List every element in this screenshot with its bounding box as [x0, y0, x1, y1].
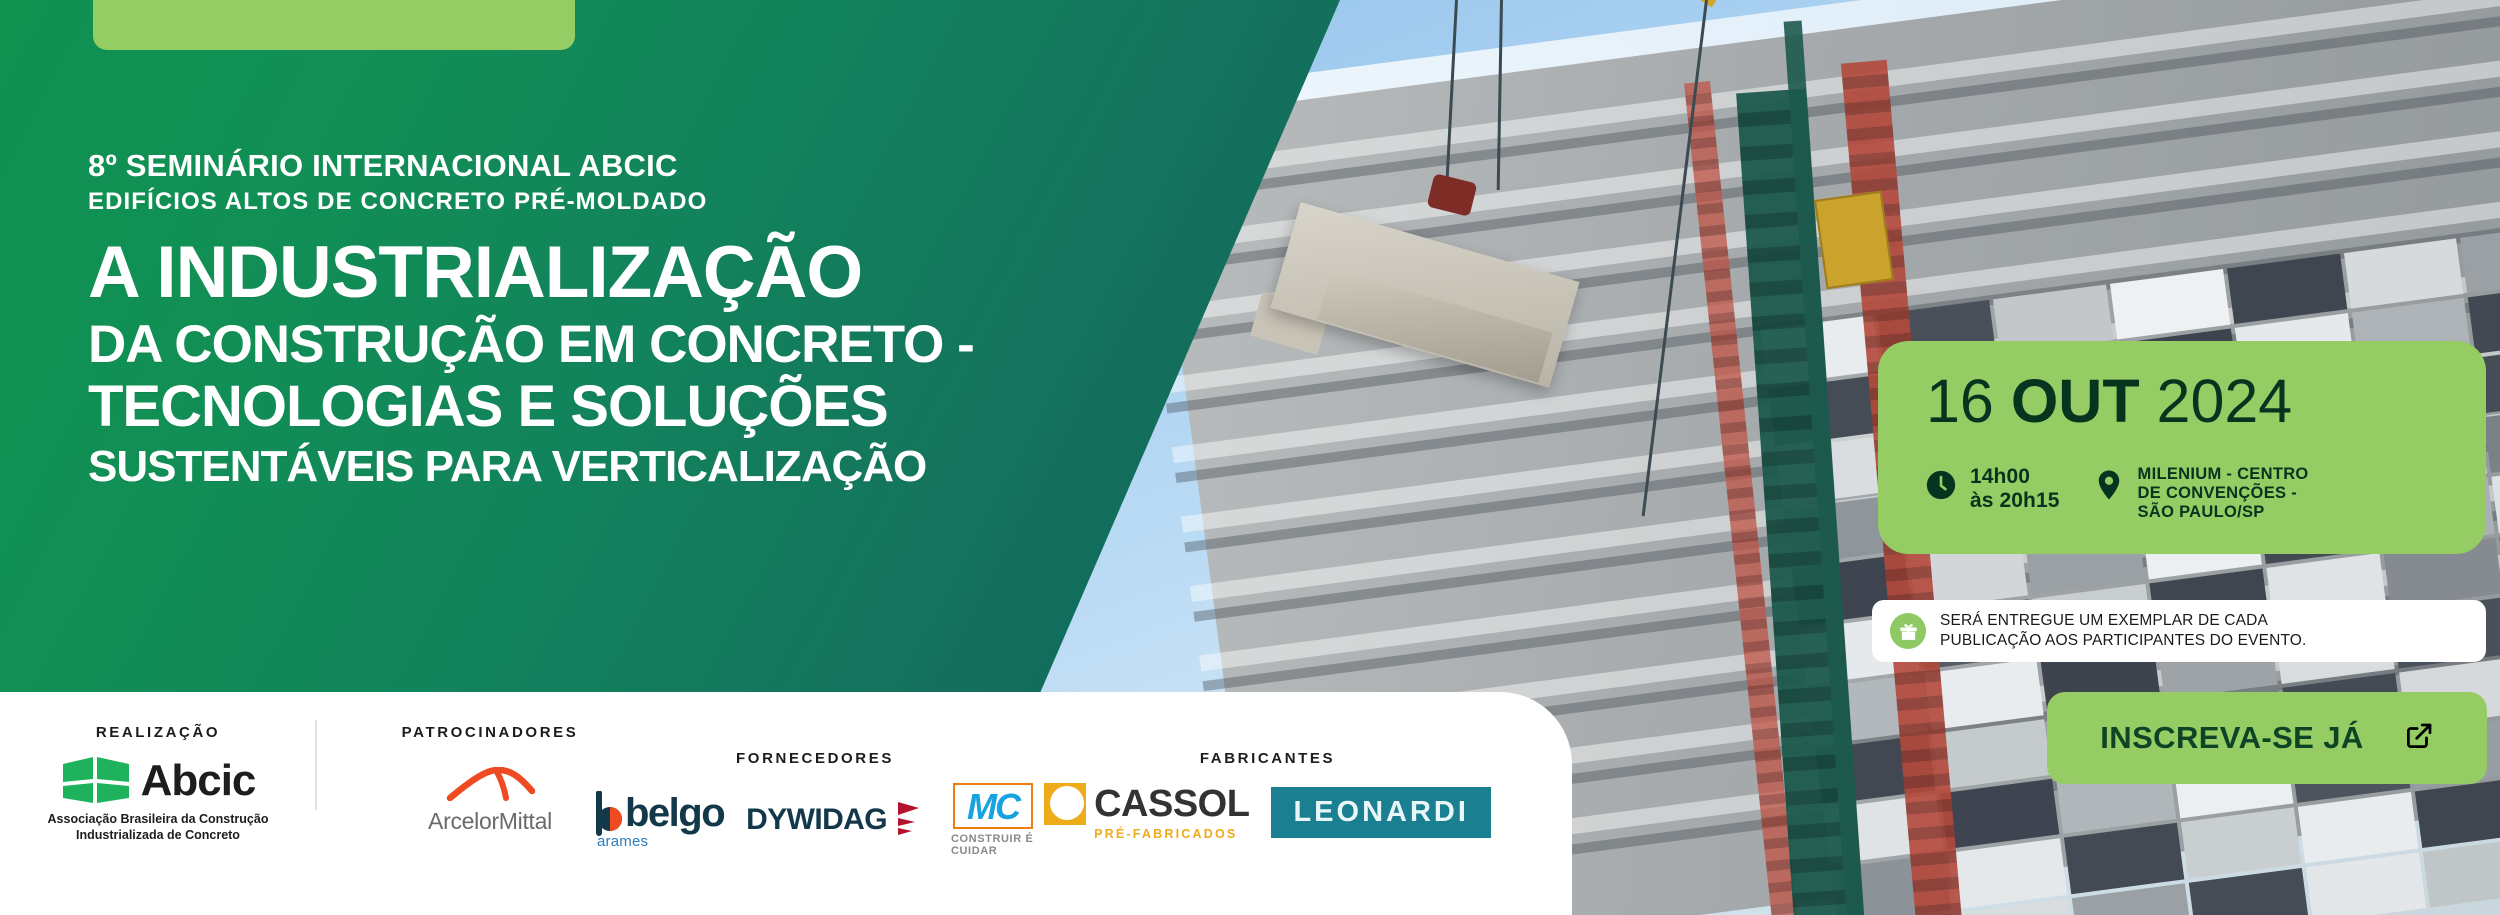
dywidag-wordmark: DYWIDAG: [746, 803, 887, 837]
dywidag-mark-icon: [895, 800, 929, 841]
gift-icon: [1890, 613, 1926, 649]
cassol-logo-main: CASSOL: [1044, 783, 1249, 825]
event-venue-line-3: SÃO PAULO/SP: [2138, 503, 2265, 521]
abcic-wordmark: Abcic: [141, 759, 256, 803]
event-venue-text: MILENIUM - CENTRO DE CONVENÇÕES - SÃO PA…: [2138, 465, 2309, 522]
event-time-line-2: às 20h15: [1970, 489, 2060, 512]
hero-headline-block: 8º SEMINÁRIO INTERNACIONAL ABCIC EDIFÍCI…: [88, 150, 1088, 489]
footer-group-title: FABRICANTES: [1040, 750, 1495, 767]
register-button-label: INSCREVA-SE JÁ: [2100, 720, 2363, 756]
footer-group-fornecedores: FORNECEDORES belgo arames: [595, 750, 1035, 857]
footer-group-title: REALIZAÇÃO: [18, 724, 298, 741]
abcic-tagline-line-1: Associação Brasileira da Construção: [48, 812, 269, 826]
arcelormittal-wordmark: ArcelorMittal: [428, 808, 552, 835]
top-green-tab: [93, 0, 575, 50]
hero-title-line-2: DA CONSTRUÇÃO EM CONCRETO -: [88, 319, 1088, 371]
event-venue-line-2: DE CONVENÇÕES -: [2138, 484, 2297, 502]
cassol-mark-icon: [1044, 783, 1086, 825]
event-date-card: 16 OUT 2024 14h00 às 20h15: [1878, 341, 2486, 554]
map-pin-icon: [2092, 468, 2126, 507]
belgo-wordmark: belgo: [625, 793, 724, 833]
mc-logo[interactable]: MC CONSTRUIR É CUIDAR: [951, 783, 1035, 857]
belgo-mark-icon: [595, 791, 625, 835]
event-kicker-line-1: 8º SEMINÁRIO INTERNACIONAL ABCIC: [88, 150, 1088, 183]
leonardi-wordmark: LEONARDI: [1293, 796, 1468, 828]
crane-trolley: [1814, 191, 1894, 290]
event-time: 14h00 às 20h15: [1924, 465, 2060, 514]
event-time-line-1: 14h00: [1970, 465, 2030, 488]
event-venue-line-1: MILENIUM - CENTRO: [2138, 465, 2309, 483]
event-date-year: 2024: [2157, 367, 2293, 435]
abcic-logo-top: Abcic: [61, 755, 256, 807]
belgo-logo[interactable]: belgo arames: [595, 791, 724, 850]
clock-icon: [1924, 468, 1958, 507]
cassol-tagline: PRÉ-FABRICADOS: [1094, 827, 1237, 841]
abcic-mark-icon: [61, 755, 131, 807]
abcic-tagline-line-2: Industrializada de Concreto: [76, 828, 240, 842]
external-link-icon: [2404, 721, 2434, 756]
fornecedores-logo-row: belgo arames DYWIDAG MC: [595, 783, 1035, 857]
publication-notice: SERÁ ENTREGUE UM EXEMPLAR DE CADA PUBLIC…: [1872, 600, 2486, 662]
event-date-day: 16: [1926, 367, 1994, 435]
leonardi-logo[interactable]: LEONARDI: [1271, 787, 1490, 838]
footer-divider: [315, 720, 317, 810]
arcelormittal-mark-icon: [444, 767, 536, 806]
hero-title-line-4: SUSTENTÁVEIS PARA VERTICALIZAÇÃO: [88, 445, 1088, 489]
mc-tagline: CONSTRUIR É CUIDAR: [951, 833, 1035, 857]
sponsors-footer: REALIZAÇÃO Abcic Associação Brasileira: [0, 692, 1572, 915]
notice-line-1: SERÁ ENTREGUE UM EXEMPLAR DE CADA: [1940, 612, 2268, 629]
notice-line-2: PUBLICAÇÃO AOS PARTICIPANTES DO EVENTO.: [1940, 632, 2306, 649]
publication-notice-text: SERÁ ENTREGUE UM EXEMPLAR DE CADA PUBLIC…: [1940, 611, 2306, 652]
event-meta-row: 14h00 às 20h15 MILENIUM - CENTRO DE CONV…: [1924, 465, 2309, 522]
event-banner: 8º SEMINÁRIO INTERNACIONAL ABCIC EDIFÍCI…: [0, 0, 2500, 915]
event-date-month: OUT: [2011, 367, 2140, 435]
cassol-wordmark: CASSOL: [1094, 785, 1249, 823]
footer-group-fabricantes: FABRICANTES CASSOL PRÉ-FABRICADOS LEONAR…: [1040, 750, 1495, 841]
belgo-logo-main: belgo: [595, 791, 724, 835]
event-kicker-line-2: EDIFÍCIOS ALTOS DE CONCRETO PRÉ-MOLDADO: [88, 189, 1088, 215]
hero-title-line-3: TECNOLOGIAS E SOLUÇÕES: [88, 378, 1088, 435]
abcic-tagline: Associação Brasileira da Construção Indu…: [48, 812, 269, 843]
footer-group-title: PATROCINADORES: [340, 724, 640, 741]
cassol-logo[interactable]: CASSOL PRÉ-FABRICADOS: [1044, 783, 1249, 841]
event-date: 16 OUT 2024: [1926, 371, 2292, 432]
event-venue: MILENIUM - CENTRO DE CONVENÇÕES - SÃO PA…: [2092, 465, 2309, 522]
footer-group-realizacao: REALIZAÇÃO Abcic Associação Brasileira: [18, 724, 298, 843]
hero-title-line-1: A INDUSTRIALIZAÇÃO: [88, 237, 1088, 309]
mc-wordmark: MC: [953, 783, 1033, 829]
event-time-text: 14h00 às 20h15: [1970, 465, 2060, 514]
register-button[interactable]: INSCREVA-SE JÁ: [2047, 692, 2487, 784]
footer-group-title: FORNECEDORES: [595, 750, 1035, 767]
fabricantes-logo-row: CASSOL PRÉ-FABRICADOS LEONARDI: [1040, 783, 1495, 841]
hero-title: A INDUSTRIALIZAÇÃO DA CONSTRUÇÃO EM CONC…: [88, 237, 1088, 489]
dywidag-logo[interactable]: DYWIDAG: [746, 800, 929, 841]
abcic-logo[interactable]: Abcic Associação Brasileira da Construçã…: [18, 755, 298, 843]
